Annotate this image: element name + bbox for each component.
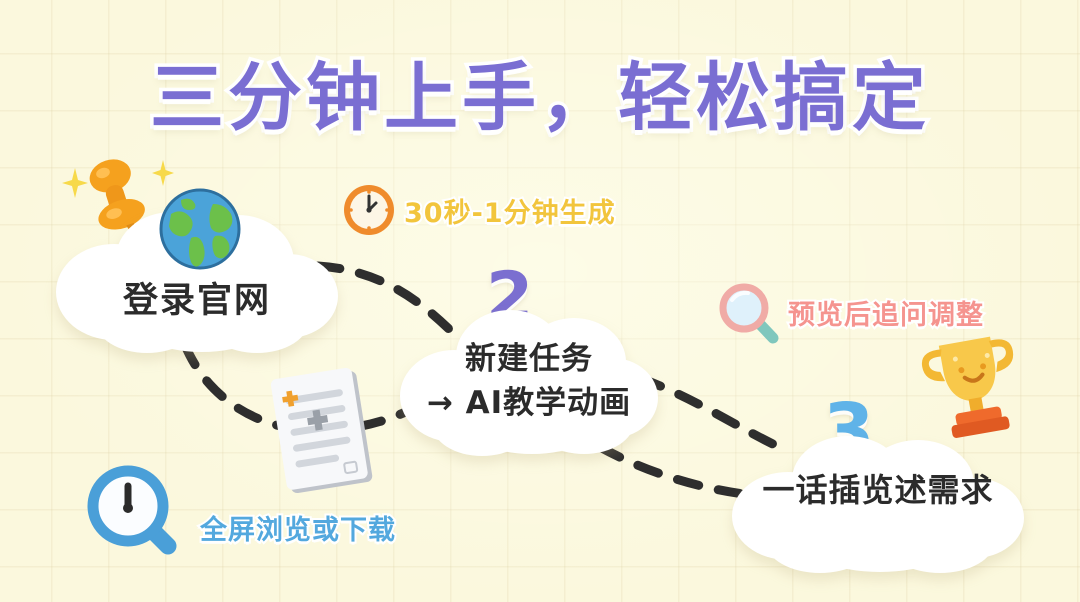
- trophy-icon: [916, 328, 1034, 440]
- caption-preview-adjust: 预览后追问调整: [788, 293, 984, 332]
- caption-generation-time: 30秒-1分钟生成: [404, 191, 616, 230]
- page-title: 三分钟上手，轻松搞定: [0, 38, 1080, 145]
- infographic-canvas: 三分钟上手，轻松搞定: [0, 0, 1080, 602]
- document-icon: [265, 368, 385, 498]
- cloud-step-3-label: 一话插览述需求: [728, 465, 1028, 511]
- magnifier-clock-blue-icon: [84, 462, 188, 562]
- caption-fullscreen-download: 全屏浏览或下载: [200, 508, 396, 547]
- cloud-step-2-label: 新建任务: [398, 333, 660, 378]
- cloud-step-1-label: 登录官网: [52, 272, 342, 323]
- cloud-step-2-sublabel: → AI教学动画: [398, 377, 660, 422]
- magnifier-pink-icon: [718, 282, 784, 348]
- globe-icon: [157, 186, 243, 272]
- clock-icon: [342, 183, 396, 237]
- sparkle-icon: [152, 160, 174, 186]
